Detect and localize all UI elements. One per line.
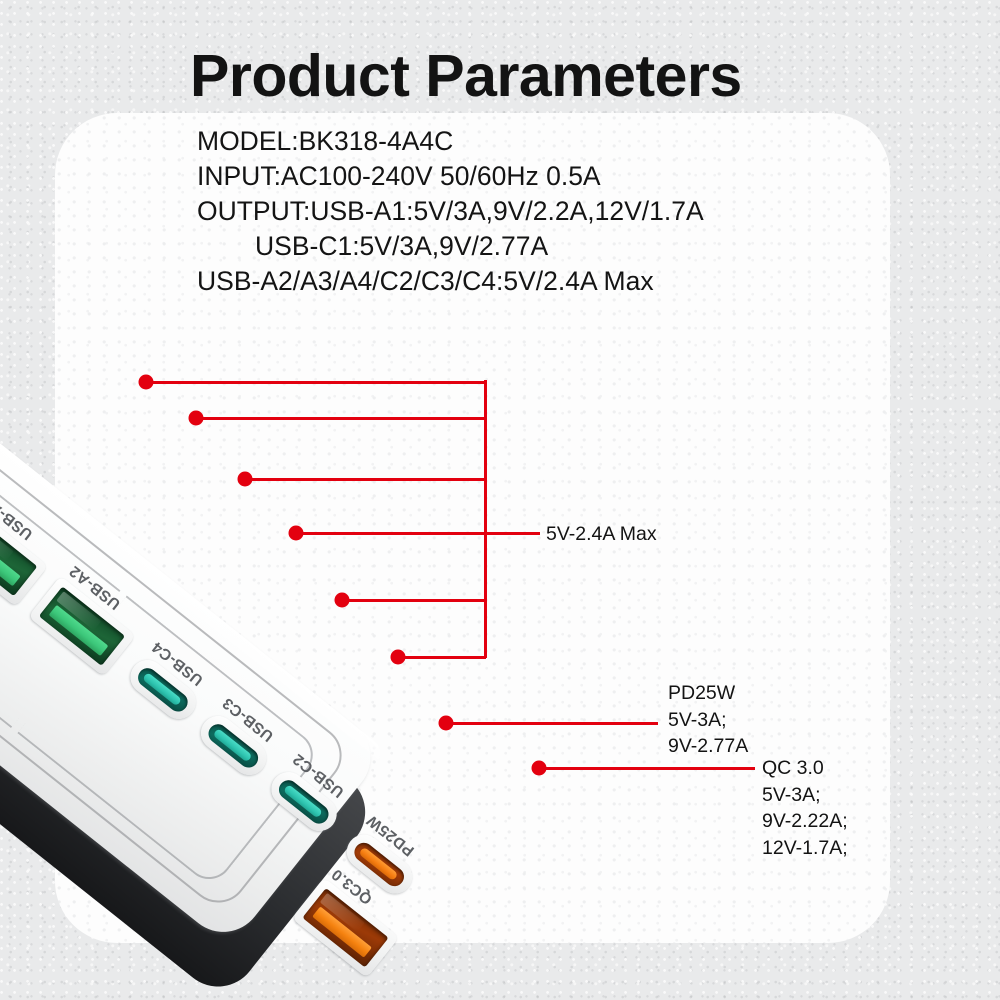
- spec-output-rest: USB-A2/A3/A4/C2/C3/C4:5V/2.4A Max: [197, 264, 857, 299]
- charging-station-image: USB-A4 USB-A3 USB-A2: [0, 300, 700, 940]
- page-title: Product Parameters: [190, 42, 830, 110]
- spec-model: MODEL:BK318-4A4C: [197, 124, 857, 159]
- spec-output: OUTPUT:USB-A1:5V/3A,9V/2.2A,12V/1.7A: [197, 194, 857, 229]
- spec-input: INPUT:AC100-240V 50/60Hz 0.5A: [197, 159, 857, 194]
- spec-output-c1: USB-C1:5V/3A,9V/2.77A: [197, 229, 857, 264]
- spec-list: MODEL:BK318-4A4C INPUT:AC100-240V 50/60H…: [197, 124, 857, 299]
- charging-station-body: USB-A4 USB-A3 USB-A2: [0, 340, 387, 948]
- product-parameters-infographic: USB-A4 USB-A3 USB-A2: [0, 0, 1000, 1000]
